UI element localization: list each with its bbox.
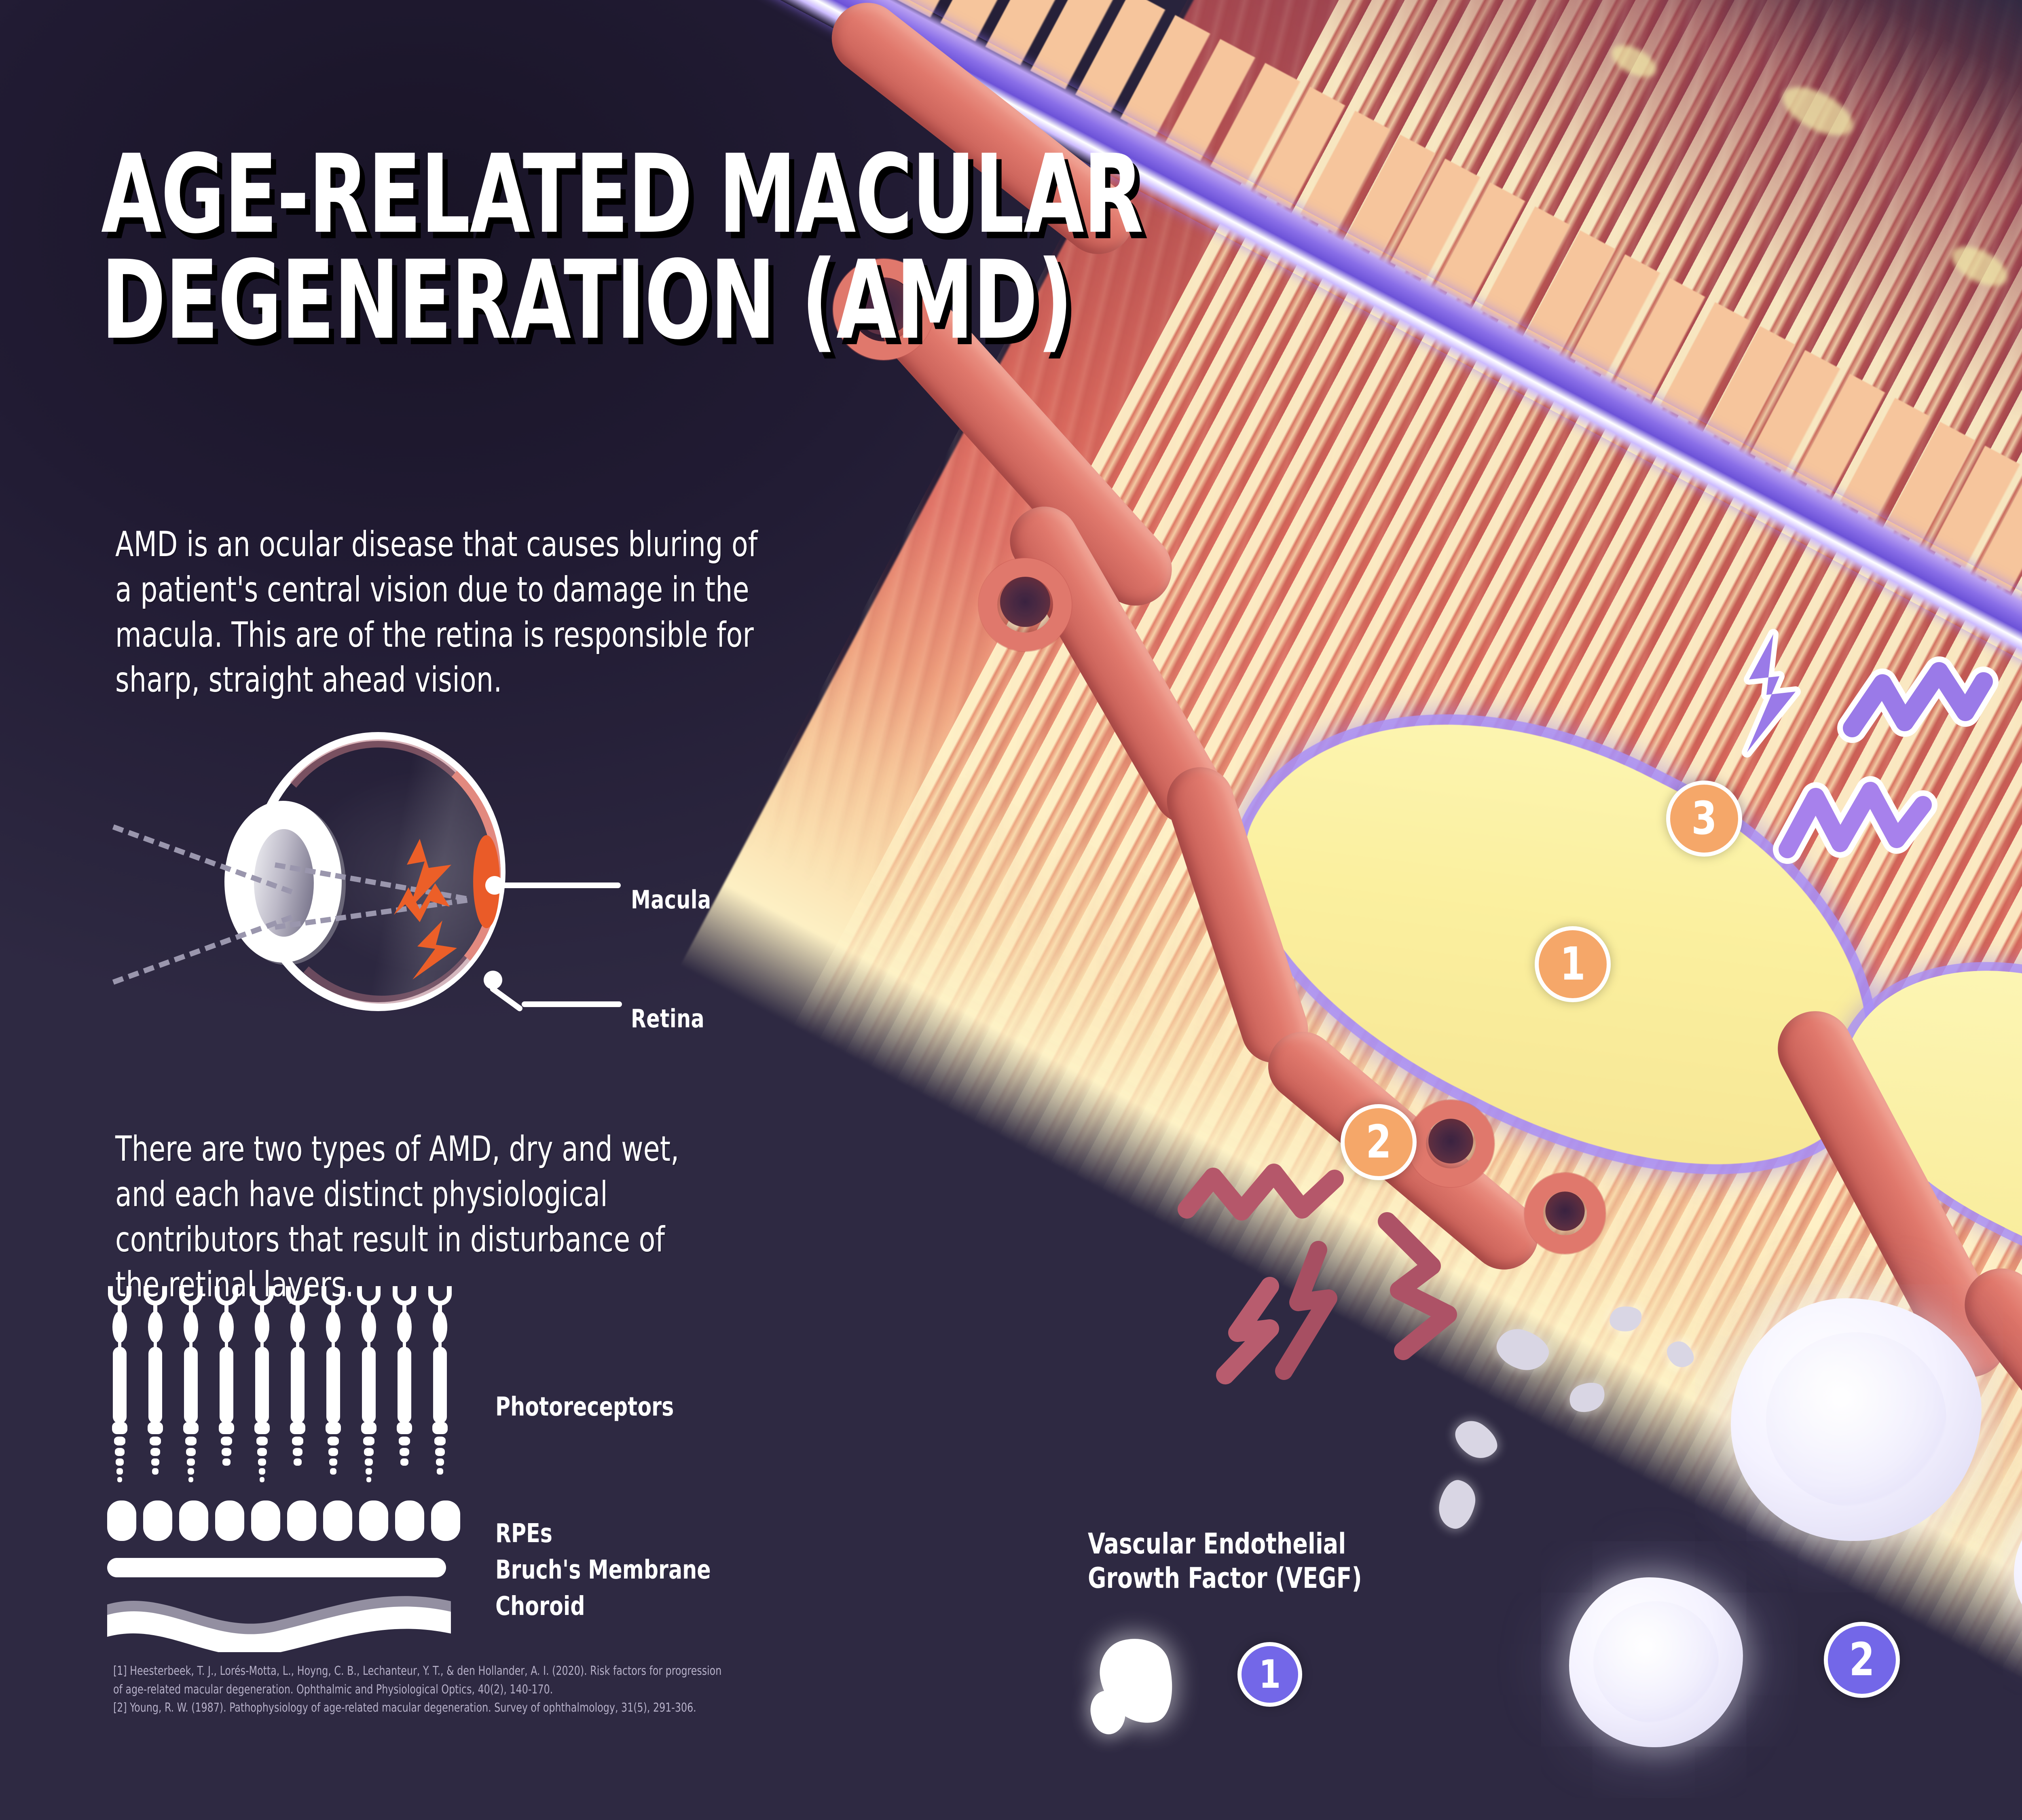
- drusen-deposit-small: [1807, 904, 2022, 1329]
- oxidative-stress-bolt: [1735, 631, 1856, 764]
- rpe-cell-strip: [107, 1500, 463, 1541]
- photoreceptor-cell: [178, 1286, 203, 1488]
- immune-cell: [2014, 1505, 2022, 1638]
- vegf-label: Vascular Endothelial Growth Factor (VEGF…: [1088, 1527, 1408, 1596]
- badge-vessel-callout[interactable]: 2: [1341, 1104, 1417, 1180]
- photoreceptor-cell: [427, 1286, 453, 1488]
- citation-1-line-1: [1] Heesterbeek, T. J., Lorés-Motta, L.,…: [113, 1662, 967, 1680]
- photoreceptor-cell: [214, 1286, 239, 1488]
- drusen-speck: [1606, 38, 1661, 83]
- layer-label-rpes: RPEs: [495, 1519, 552, 1549]
- vegf-speck: [1435, 1477, 1479, 1532]
- choroid-strip: [107, 1583, 451, 1648]
- oxidative-stress-bolt: [1779, 768, 1933, 874]
- macula-leader-line: [499, 882, 621, 888]
- rpe-cell: [323, 1500, 352, 1541]
- retina-leader-line: [522, 1001, 622, 1007]
- rpe-cell: [359, 1500, 388, 1541]
- oxidative-stress-bolt: [1844, 659, 1990, 772]
- badge-vegf[interactable]: 1: [1237, 1642, 1302, 1707]
- inflammation-bolt: [1371, 1213, 1464, 1359]
- blood-vessel-cross-section: [1525, 1173, 1605, 1254]
- eye-label-retina: Retina: [631, 1004, 704, 1033]
- blood-vessel: [1950, 1254, 2022, 1585]
- eye-label-macula: Macula: [631, 885, 711, 914]
- eye-anatomy-diagram: Macula Retina: [101, 708, 789, 1043]
- vegf-speck: [1662, 1336, 1699, 1372]
- blood-vessel-cross-section: [979, 558, 1072, 651]
- rpe-cell: [215, 1500, 244, 1541]
- rpe-cell: [179, 1500, 208, 1541]
- photoreceptor-cell: [392, 1286, 417, 1488]
- inflammation-bolt: [1213, 1242, 1347, 1379]
- rpe-cell: [287, 1500, 316, 1541]
- blood-vessel: [1158, 759, 1317, 1072]
- text-column: AGE-RELATED MACULAR DEGENERATION (AMD) A…: [0, 0, 829, 1820]
- rpe-cell: [251, 1500, 280, 1541]
- citations-block: [1] Heesterbeek, T. J., Lorés-Motta, L.,…: [113, 1662, 967, 1718]
- rpe-cell: [143, 1500, 172, 1541]
- badge-drusen-number: 1: [1560, 938, 1585, 990]
- rpe-cell: [107, 1500, 136, 1541]
- badge-vessel-number: 2: [1366, 1116, 1391, 1168]
- layer-label-photoreceptors: Photoreceptors: [495, 1392, 674, 1422]
- photoreceptor-row: [107, 1286, 471, 1488]
- rpe-cell: [431, 1500, 460, 1541]
- blood-vessel-cross-section: [1407, 1100, 1494, 1187]
- vegf-speck: [1449, 1414, 1504, 1466]
- photoreceptor-cell: [285, 1286, 310, 1488]
- badge-immune-cell-callout[interactable]: 2: [1824, 1622, 1900, 1698]
- inflammation-bolt: [1181, 1161, 1343, 1246]
- retina-leader-elbow: [489, 985, 524, 1012]
- badge-photoreceptor-callout[interactable]: 3: [1666, 781, 1742, 857]
- page-title: AGE-RELATED MACULAR DEGENERATION (AMD): [101, 142, 1363, 354]
- drusen-speck: [1775, 77, 1860, 146]
- intro-paragraph: AMD is an ocular disease that causes blu…: [115, 522, 769, 703]
- photoreceptor-cell: [107, 1286, 132, 1488]
- photoreceptor-cell: [143, 1286, 168, 1488]
- macula-damage-bolt: [408, 918, 461, 985]
- retinal-layers-diagram: Photoreceptors RPEs Bruch's Membrane Cho…: [107, 1286, 803, 1626]
- badge-drusen-callout[interactable]: 1: [1535, 926, 1611, 1002]
- blood-vessel: [1765, 998, 2021, 1390]
- badge-vegf-number: 1: [1259, 1652, 1281, 1697]
- badge-photoreceptor-number: 3: [1691, 792, 1717, 845]
- blood-vessel: [997, 494, 1235, 836]
- layer-label-bruchs-membrane: Bruch's Membrane: [495, 1555, 711, 1585]
- drusen-speck: [1946, 238, 2014, 294]
- badge-immune-number: 2: [1849, 1634, 1874, 1686]
- rpe-cell: [395, 1500, 424, 1541]
- vegf-speck: [1492, 1323, 1554, 1376]
- vegf-protein-icon: [1093, 1631, 1182, 1732]
- types-paragraph: There are two types of AMD, dry and wet,…: [115, 1127, 713, 1308]
- photoreceptor-cell: [356, 1286, 381, 1488]
- bruchs-membrane-strip: [107, 1558, 446, 1577]
- vegf-speck: [1565, 1378, 1610, 1418]
- layer-label-choroid: Choroid: [495, 1591, 585, 1621]
- vegf-speck: [1608, 1304, 1643, 1334]
- photoreceptor-cell: [321, 1286, 346, 1488]
- immune-cell: [1731, 1298, 1982, 1541]
- photoreceptor-cell: [250, 1286, 275, 1488]
- citation-2: [2] Young, R. W. (1987). Pathophysiology…: [113, 1699, 967, 1717]
- amd-infographic-poster: 1 2 3 1 2 3 2 Vascular Endothelial Growt…: [0, 0, 2022, 1820]
- immune-cell: [1569, 1577, 1743, 1747]
- citation-1-line-2: of age-related macular degeneration. Oph…: [113, 1681, 967, 1699]
